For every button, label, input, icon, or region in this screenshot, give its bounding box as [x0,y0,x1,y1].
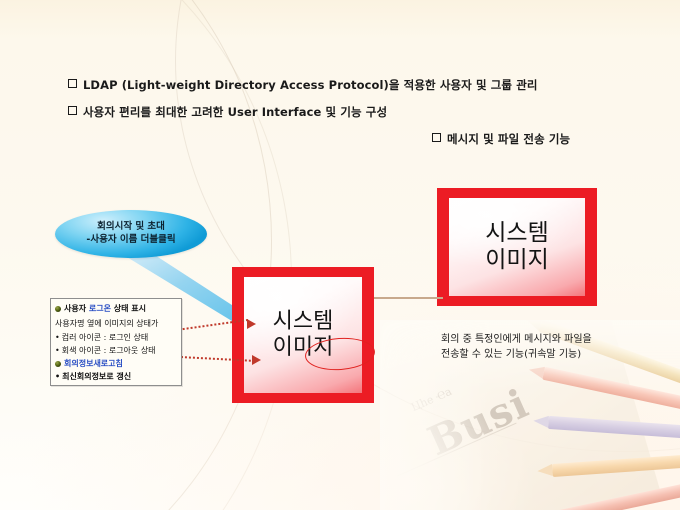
legend-line-1: 사용자 로그온 상태 표시 [55,305,146,313]
legend-line-4: •회색 아이콘 : 로그아웃 상태 [55,347,156,355]
box-right-line1: 시스템 [485,220,548,247]
header-bullet-1: LDAP (Light-weight Directory Access Prot… [68,77,538,93]
legend-line-1-highlight: 로그온 [89,304,111,313]
square-bullet-icon [432,133,441,142]
legend-line-4-text: 회색 아이콘 : 로그아웃 상태 [62,346,156,355]
legend-line-3: •컴러 아이콘 : 로그인 상태 [55,334,148,342]
system-image-box-right-inner: 시스템 이미지 [449,198,585,296]
header-bullet-1-text: LDAP (Light-weight Directory Access Prot… [83,78,538,92]
small-dot-icon: • [55,347,60,355]
status-legend-box: 사용자 로그온 상태 표시 사용자명 옆에 이미지의 상태가 •컴러 아이콘 :… [50,298,182,386]
box-left-line1: 시스템 [273,309,334,335]
header-bullet-2: 사용자 편리를 최대한 고려한 User Interface 및 기능 구성 [68,104,387,120]
square-bullet-icon [68,106,77,115]
dotted-arrow-top-head [247,319,256,329]
box-right-line2: 이미지 [485,247,548,274]
legend-line-6: •최신회의정보로 갱신 [55,373,131,381]
header-bullet-2-text: 사용자 편리를 최대한 고려한 User Interface 및 기능 구성 [83,105,387,119]
legend-line-1-text: 사용자 [64,304,89,313]
green-dot-icon [55,306,61,312]
header-bullet-3-text: 메시지 및 파일 전송 기능 [447,132,570,146]
right-caption-line2: 전송할 수 있는 기능(귀속말 기능) [441,348,661,363]
callout-line1: 회의시작 및 초대 [86,221,175,234]
legend-line-3-text: 컴러 아이콘 : 로그인 상태 [62,333,148,342]
callout-bubble[interactable]: 회의시작 및 초대 -사용자 이름 더블클릭 [55,210,207,258]
square-bullet-icon [68,79,77,88]
right-caption: 회의 중 특정인에게 메시지와 파일을 전송할 수 있는 기능(귀속말 기능) [441,333,661,362]
legend-line-2-text: 사용자명 옆에 이미지의 상태가 [55,319,158,328]
legend-line-5: 회의정보새로고침 [55,360,123,368]
green-dot-icon [55,361,61,367]
system-image-box-right: 시스템 이미지 [437,188,597,306]
connector-horizontal [371,297,443,299]
small-dot-icon: • [55,373,60,381]
header-bullet-3: 메시지 및 파일 전송 기능 [432,131,570,147]
background-top-band [0,0,680,40]
callout-text: 회의시작 및 초대 -사용자 이름 더블클릭 [86,221,175,246]
system-image-box-right-label: 시스템 이미지 [485,220,548,274]
slide-canvas: Цhe Ҽа Busi LDAP (Light-weight Directory… [0,0,680,510]
dotted-arrow-bottom-head [252,355,261,365]
small-dot-icon: • [55,334,60,342]
legend-line-1-tail: 상태 표시 [111,304,146,313]
right-caption-line1: 회의 중 특정인에게 메시지와 파일을 [441,333,661,348]
legend-line-2: 사용자명 옆에 이미지의 상태가 [55,320,158,328]
callout-line2: -사용자 이름 더블클릭 [86,234,175,247]
legend-line-6-text: 최신회의정보로 갱신 [62,372,131,381]
legend-line-5-text: 회의정보새로고침 [64,359,123,368]
